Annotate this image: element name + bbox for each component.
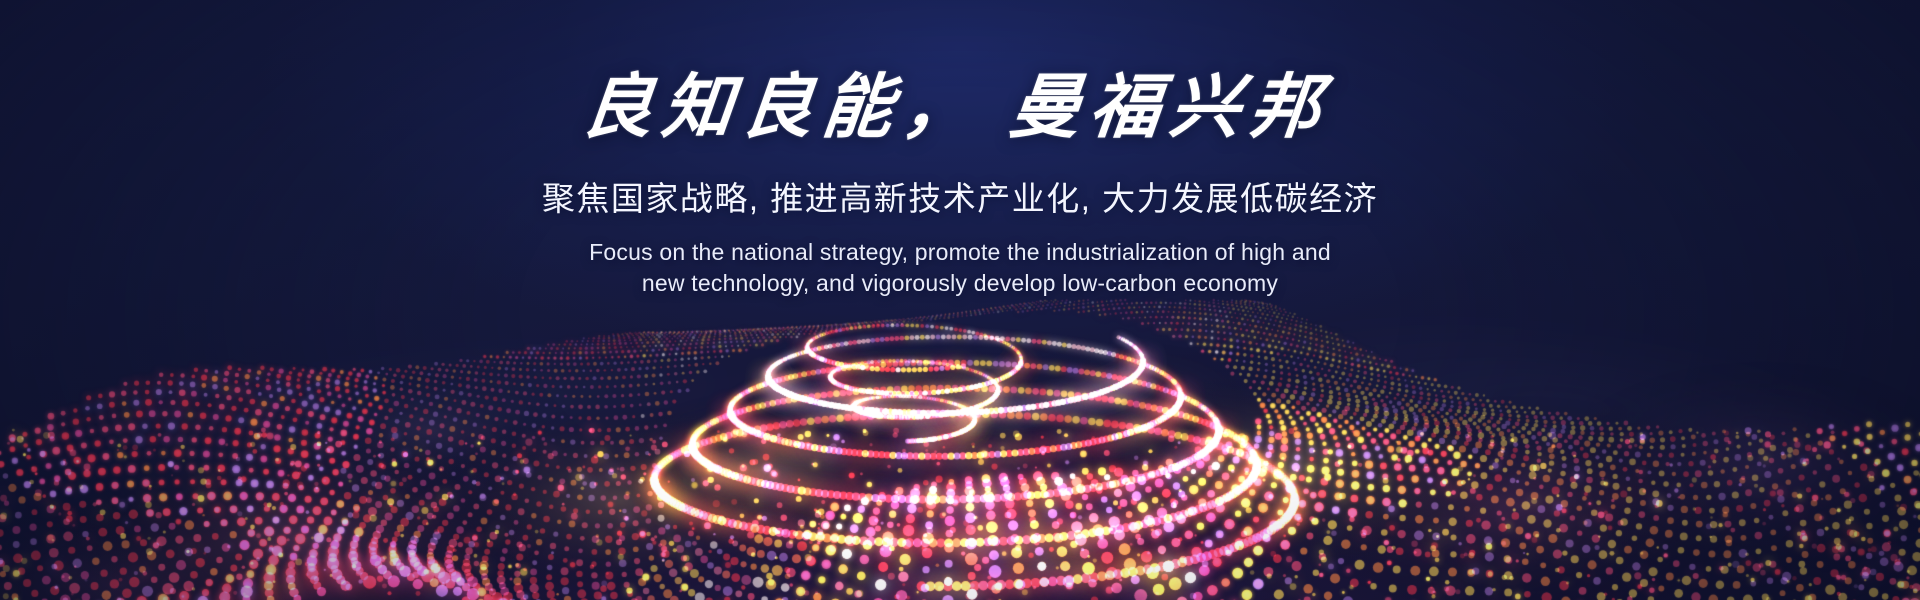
subtitle-english: Focus on the national strategy, promote … <box>575 220 1345 299</box>
page-title: 良知良能， 曼福兴邦 <box>0 0 1920 146</box>
subtitle-chinese: 聚焦国家战略, 推进高新技术产业化, 大力发展低碳经济 <box>0 146 1920 220</box>
hero-banner: 良知良能， 曼福兴邦 聚焦国家战略, 推进高新技术产业化, 大力发展低碳经济 F… <box>0 0 1920 600</box>
banner-text-block: 良知良能， 曼福兴邦 聚焦国家战略, 推进高新技术产业化, 大力发展低碳经济 F… <box>0 0 1920 299</box>
subtitle-english-line-2: new technology, and vigorously develop l… <box>575 268 1345 299</box>
subtitle-english-line-1: Focus on the national strategy, promote … <box>575 237 1345 268</box>
